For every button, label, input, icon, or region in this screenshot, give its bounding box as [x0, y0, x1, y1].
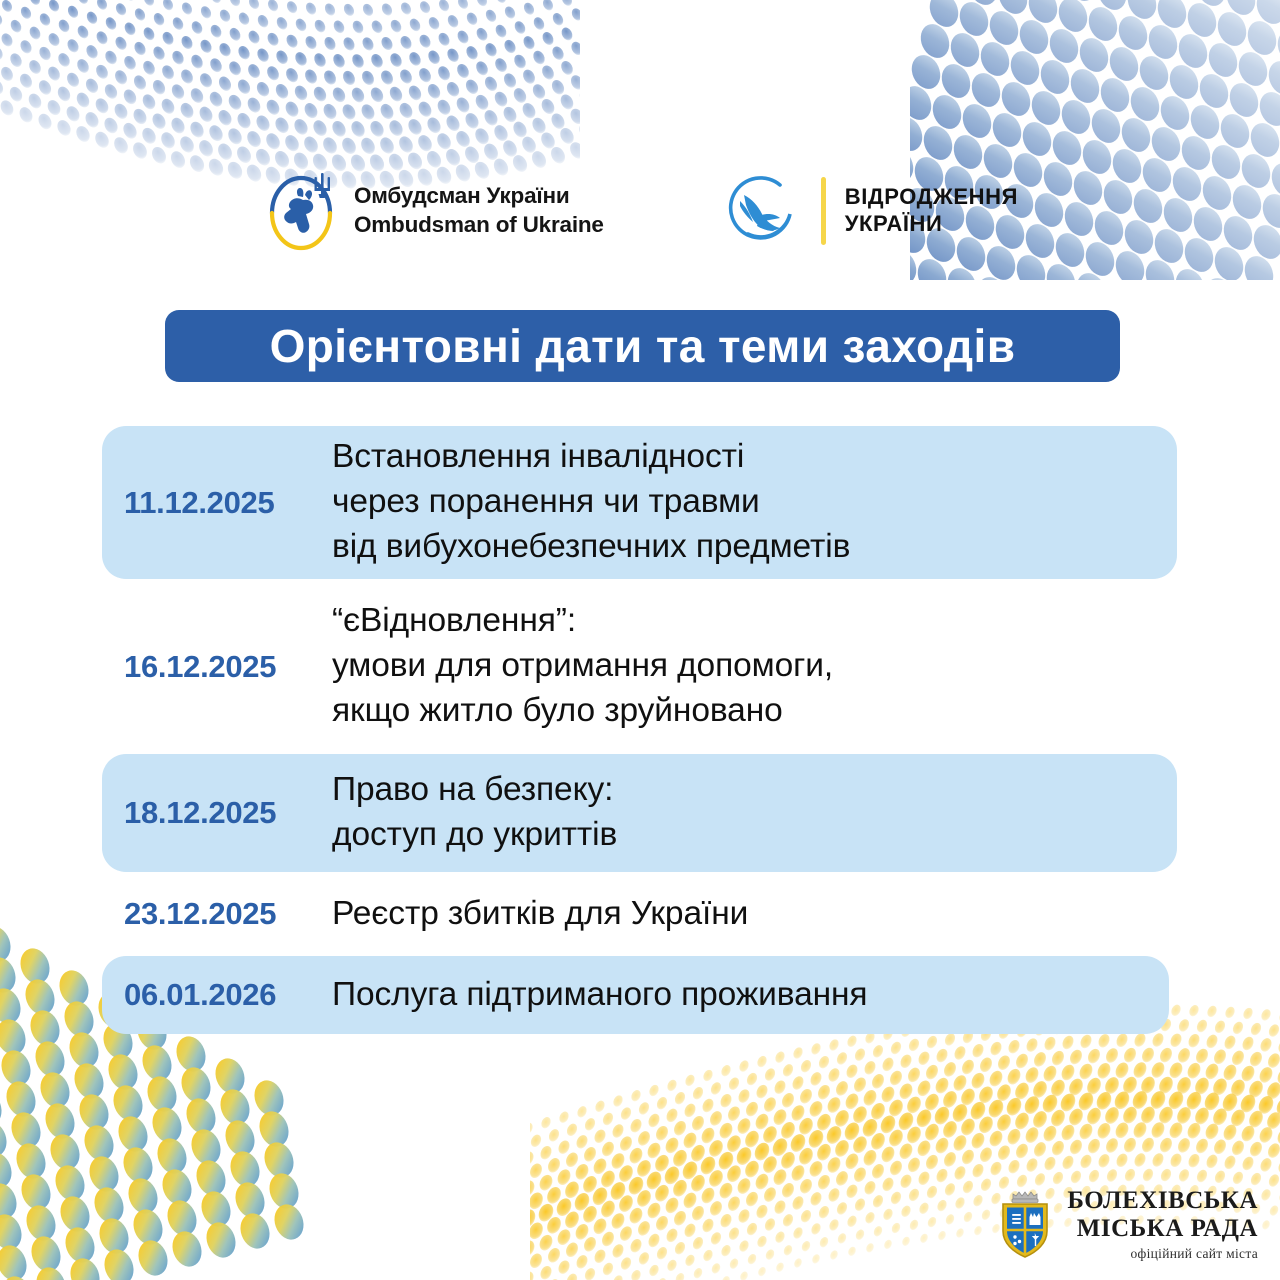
vidrodzhennya-label-line2: УКРАЇНИ [845, 211, 1018, 238]
schedule-row-date: 16.12.2025 [102, 649, 332, 685]
schedule-row-date: 18.12.2025 [102, 795, 332, 831]
vidrodzhennya-label-line1: ВІДРОДЖЕННЯ [845, 184, 1018, 211]
logo-divider [821, 177, 826, 245]
ombudsman-logo: Омбудсман України Ombudsman of Ukraine [262, 167, 604, 255]
schedule-row-topic: Право на безпеку: доступ до укриттів [332, 768, 1177, 858]
schedule-row-date: 06.01.2026 [102, 977, 332, 1013]
ombudsman-label-en: Ombudsman of Ukraine [354, 211, 604, 240]
city-council-line2: МІСЬКА РАДА [1077, 1215, 1258, 1243]
vidrodzhennya-logo: ВІДРОДЖЕННЯ УКРАЇНИ [722, 171, 1018, 251]
city-council-subtitle: офіційний сайт міста [1131, 1246, 1259, 1261]
schedule-row: 18.12.2025 Право на безпеку: доступ до у… [102, 754, 1177, 872]
ombudsman-label-uk: Омбудсман України [354, 182, 604, 211]
schedule-row: 16.12.2025 “єВідновлення”: умови для отр… [102, 579, 1177, 754]
schedule-list: 11.12.2025 Встановлення інвалідності чер… [0, 426, 1280, 1034]
schedule-row: 11.12.2025 Встановлення інвалідності чер… [102, 426, 1177, 579]
schedule-row-topic: “єВідновлення”: умови для отримання допо… [332, 599, 1177, 734]
phoenix-bird-icon [722, 171, 802, 251]
page-title: Орієнтовні дати та теми заходів [270, 319, 1016, 373]
schedule-row-date: 11.12.2025 [102, 485, 332, 521]
schedule-row: 06.01.2026 Послуга підтриманого проживан… [102, 956, 1169, 1034]
bolekhiv-coat-of-arms-icon [995, 1186, 1055, 1262]
schedule-row-topic: Встановлення інвалідності через пораненн… [332, 435, 1177, 570]
schedule-row-topic: Реєстр збитків для України [332, 892, 1177, 937]
page-title-banner: Орієнтовні дати та теми заходів [165, 310, 1120, 382]
ombudsman-dove-hand-icon [262, 167, 340, 255]
schedule-row: 23.12.2025 Реєстр збитків для України [102, 872, 1177, 956]
city-council-line1: БОЛЕХІВСЬКА [1067, 1187, 1258, 1215]
schedule-row-topic: Послуга підтриманого проживання [332, 973, 1169, 1018]
schedule-row-date: 23.12.2025 [102, 896, 332, 932]
city-council-logo: БОЛЕХІВСЬКА МІСЬКА РАДА офіційний сайт м… [995, 1186, 1258, 1262]
header-logo-row: Омбудсман України Ombudsman of Ukraine В… [0, 163, 1280, 259]
poster-canvas: Омбудсман України Ombudsman of Ukraine В… [0, 0, 1280, 1280]
